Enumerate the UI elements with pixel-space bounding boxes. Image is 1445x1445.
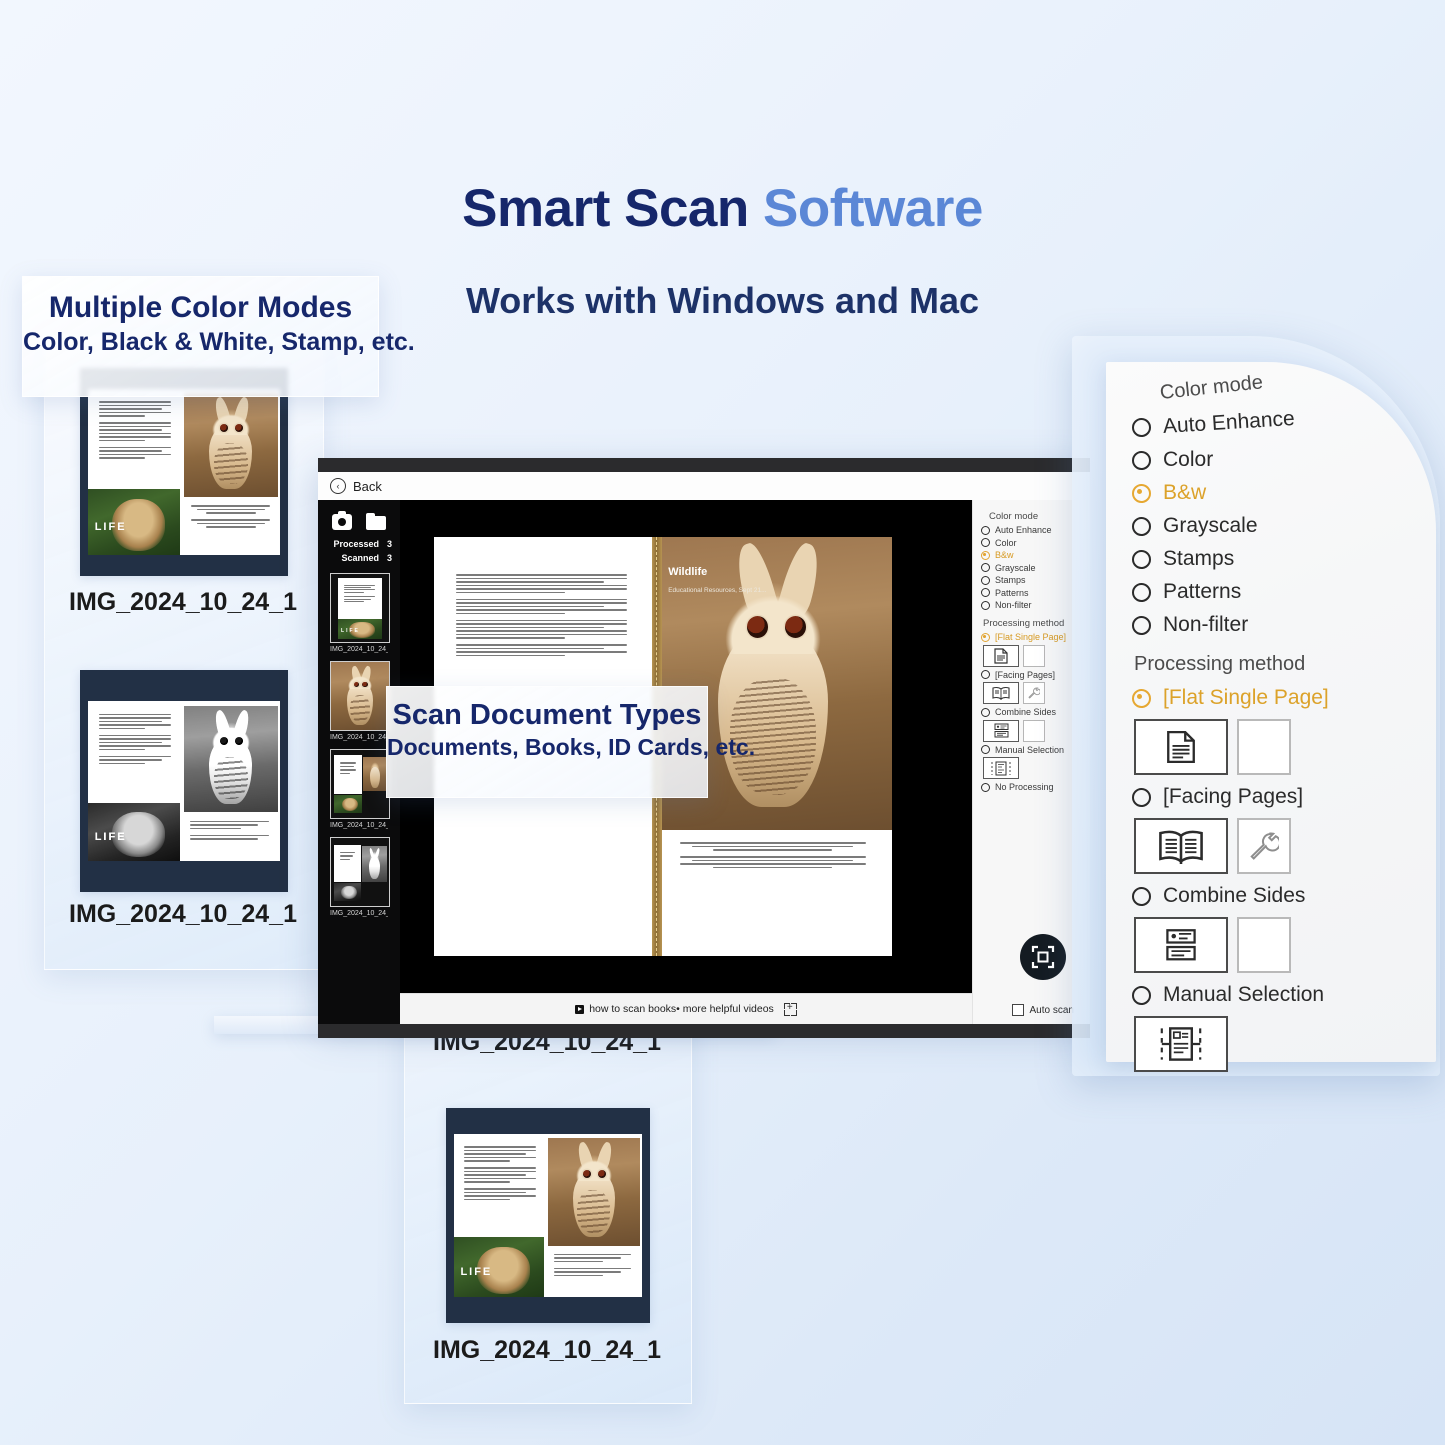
radio-icon[interactable] <box>981 670 990 679</box>
back-button[interactable]: Back <box>353 479 382 494</box>
life-cover-image-bw: LIFE <box>88 803 180 861</box>
window-title-bar <box>318 458 1090 472</box>
option-label: B&w <box>995 550 1014 560</box>
callout-title: Multiple Color Modes <box>23 291 378 325</box>
thumbnail-image <box>330 749 390 819</box>
radio-icon[interactable] <box>1132 616 1151 635</box>
list-item[interactable]: IMG_2024_10_24_1... <box>330 661 388 741</box>
mg-tile-row-manual-selection <box>1134 1016 1436 1072</box>
wrench-icon[interactable] <box>1237 818 1291 874</box>
wrench-icon[interactable] <box>1023 682 1045 704</box>
help-video-label: how to scan books• more helpful videos <box>589 1003 774 1015</box>
option-color[interactable]: Color <box>981 538 1084 548</box>
mg-option-bw[interactable]: B&w <box>1132 481 1436 505</box>
option-auto-enhance[interactable]: Auto Enhance <box>981 525 1084 535</box>
callout-color-modes: Multiple Color Modes Color, Black & Whit… <box>22 276 379 397</box>
blank-tile-icon[interactable] <box>1237 719 1291 775</box>
mg-option-patterns[interactable]: Patterns <box>1132 580 1436 604</box>
doc-card-color-spread-2[interactable]: LIFE <box>446 1108 650 1323</box>
radio-icon[interactable] <box>1132 451 1151 470</box>
app-bottom-bar: how to scan books• more helpful videos <box>400 993 972 1024</box>
radio-icon[interactable] <box>1132 986 1151 1005</box>
radio-icon-selected[interactable] <box>981 551 990 560</box>
filmstrip-actions <box>318 500 400 530</box>
color-mode-heading: Color mode <box>989 511 1084 522</box>
mg-tile-row-facing-pages <box>1134 818 1436 874</box>
page-title: Smart Scan Software <box>0 178 1445 239</box>
option-label: [Facing Pages] <box>1163 785 1303 809</box>
owl-photo <box>184 393 278 497</box>
option-label: [Flat Single Page] <box>1163 686 1329 710</box>
option-label: Grayscale <box>995 563 1036 573</box>
option-label: Color <box>1163 448 1213 472</box>
radio-icon-selected[interactable] <box>981 633 990 642</box>
document-page-icon[interactable] <box>983 645 1019 667</box>
radio-icon[interactable] <box>981 538 990 547</box>
mg-tile-row-combine-sides <box>1134 917 1436 973</box>
fullscreen-icon[interactable] <box>784 1003 797 1016</box>
radio-icon-selected[interactable] <box>1132 484 1151 503</box>
option-label: Patterns <box>995 588 1029 598</box>
page-text-block <box>95 397 178 501</box>
option-label: B&w <box>1163 481 1206 505</box>
mg-option-color[interactable]: Color <box>1132 448 1436 472</box>
preview-page-subtitle: Educational Resources, Sept 21... <box>668 587 766 594</box>
option-label: No Processing <box>995 782 1054 792</box>
back-chevron-icon[interactable]: ‹ <box>330 478 346 494</box>
option-combine-sides[interactable]: Combine Sides <box>981 707 1084 717</box>
option-label: Non-filter <box>995 600 1032 610</box>
auto-scan-label: Auto scan <box>1030 1005 1074 1016</box>
option-label: Non-filter <box>1163 613 1248 637</box>
list-item[interactable]: IMG_2024_10_24_1... <box>330 837 388 917</box>
magnifier-glass: Color mode Auto Enhance Color B&w Graysc… <box>1072 336 1440 1076</box>
radio-icon[interactable] <box>981 526 990 535</box>
radio-icon[interactable] <box>1132 550 1151 569</box>
life-label: LIFE <box>95 831 127 843</box>
stat-label-scanned: Scanned <box>341 552 379 566</box>
life-cover-image: LIFE <box>88 489 180 556</box>
option-patterns[interactable]: Patterns <box>981 588 1084 598</box>
radio-icon[interactable] <box>981 576 990 585</box>
mg-option-combine-sides[interactable]: Combine Sides <box>1132 884 1436 908</box>
owl-photo <box>548 1138 640 1246</box>
option-non-filter[interactable]: Non-filter <box>981 600 1084 610</box>
option-stamps[interactable]: Stamps <box>981 575 1084 585</box>
callout-title: Scan Document Types <box>387 699 707 731</box>
thumbnail-image <box>330 661 390 731</box>
headline-part-1: Smart Scan <box>462 179 763 238</box>
auto-scan-checkbox[interactable]: Auto scan <box>1012 1004 1074 1016</box>
mg-option-manual-selection[interactable]: Manual Selection <box>1132 983 1436 1007</box>
option-label: Patterns <box>1163 580 1241 604</box>
callout-document-types: Scan Document Types Documents, Books, ID… <box>386 686 708 798</box>
option-manual-selection[interactable]: Manual Selection <box>981 745 1084 755</box>
open-book-icon[interactable] <box>1134 818 1228 874</box>
id-card-stack-icon[interactable] <box>983 720 1019 742</box>
radio-icon[interactable] <box>1132 583 1151 602</box>
folder-icon[interactable] <box>366 514 386 530</box>
magnified-processing-heading: Processing method <box>1134 653 1436 676</box>
callout-subtitle: Documents, Books, ID Cards, etc. <box>387 734 707 760</box>
tile-row-manual-selection <box>983 757 1084 779</box>
page-text-block <box>460 1142 542 1245</box>
life-label: LIFE <box>460 1266 492 1278</box>
option-grayscale[interactable]: Grayscale <box>981 563 1084 573</box>
page-render: LIFE <box>446 1108 650 1323</box>
radio-icon[interactable] <box>981 588 990 597</box>
help-video-link[interactable]: how to scan books• more helpful videos <box>575 1003 774 1015</box>
scan-frame-icon <box>1031 945 1055 969</box>
checkbox-icon[interactable] <box>1012 1004 1024 1016</box>
option-label: Auto Enhance <box>995 525 1052 535</box>
page-render: LIFE <box>80 670 288 892</box>
option-flat-single-page[interactable]: [Flat Single Page] <box>981 632 1084 642</box>
id-card-stack-icon[interactable] <box>1134 917 1228 973</box>
mg-option-facing-pages[interactable]: [Facing Pages] <box>1132 785 1436 809</box>
doc-card-caption: IMG_2024_10_24_1 <box>44 588 322 617</box>
mg-tile-row-flat-single-page <box>1134 719 1436 775</box>
option-label: Stamps <box>1163 547 1234 571</box>
blank-tile-icon[interactable] <box>1023 720 1045 742</box>
radio-icon[interactable] <box>1132 887 1151 906</box>
doc-card-bw-spread[interactable]: LIFE <box>80 670 288 892</box>
window-foot-bar <box>318 1024 1090 1038</box>
magnified-settings-panel: Color mode Auto Enhance Color B&w Graysc… <box>1106 362 1436 1062</box>
option-label: Color <box>995 538 1017 548</box>
life-cover-image: LIFE <box>454 1237 544 1297</box>
tile-row-facing-pages <box>983 682 1084 704</box>
radio-icon[interactable] <box>981 708 990 717</box>
life-label: LIFE <box>95 521 127 533</box>
radio-icon[interactable] <box>981 783 990 792</box>
magnified-color-mode-heading: Color mode <box>1159 353 1436 405</box>
list-item-caption: IMG_2024_10_24_1... <box>330 907 388 917</box>
radio-icon[interactable] <box>1132 418 1151 437</box>
preview-page-title: Wildlife <box>668 566 707 578</box>
list-item[interactable]: IMG_2024_10_24_1... <box>330 749 388 829</box>
manual-crop-icon[interactable] <box>983 757 1019 779</box>
option-label: Auto Enhance <box>1162 407 1295 439</box>
list-item-caption: IMG_2024_10_24_1... <box>330 643 388 653</box>
mg-option-stamps[interactable]: Stamps <box>1132 547 1436 571</box>
list-item[interactable]: LIFE IMG_2024_10_24_1... <box>330 573 388 653</box>
doc-card-caption: IMG_2024_10_24_1 <box>44 900 322 929</box>
stat-value-scanned: 3 <box>387 552 392 566</box>
processing-method-heading: Processing method <box>983 618 1084 629</box>
scan-button[interactable] <box>1020 934 1066 980</box>
option-label: Combine Sides <box>1163 884 1305 908</box>
option-no-processing[interactable]: No Processing <box>981 782 1084 792</box>
app-toolbar: ‹ Back <box>318 472 1090 501</box>
poster-stage: Smart Scan Software Works with Windows a… <box>0 0 1445 1445</box>
callout-subtitle: Color, Black & White, Stamp, etc. <box>23 328 378 357</box>
mg-option-auto-enhance[interactable]: Auto Enhance <box>1132 415 1436 439</box>
page-render: LIFE <box>80 368 288 576</box>
stat-value-processed: 3 <box>387 538 392 552</box>
option-label: Manual Selection <box>1163 983 1324 1007</box>
document-page-icon[interactable] <box>1134 719 1228 775</box>
owl-photo-bw <box>184 706 278 813</box>
option-label: [Facing Pages] <box>995 670 1055 680</box>
thumbnail-image <box>330 837 390 907</box>
mg-option-non-filter[interactable]: Non-filter <box>1132 613 1436 637</box>
option-label: Manual Selection <box>995 745 1064 755</box>
option-label: Combine Sides <box>995 707 1056 717</box>
camera-icon[interactable] <box>332 514 352 530</box>
stat-label-processed: Processed <box>333 538 379 552</box>
radio-icon-selected[interactable] <box>1132 689 1151 708</box>
option-bw[interactable]: B&w <box>981 550 1084 560</box>
open-book-icon[interactable] <box>983 682 1019 704</box>
option-label: Grayscale <box>1163 514 1258 538</box>
option-label: [Flat Single Page] <box>995 632 1066 642</box>
radio-icon[interactable] <box>981 745 990 754</box>
list-item-caption: IMG_2024_10_24_1... <box>330 819 388 829</box>
mg-option-grayscale[interactable]: Grayscale <box>1132 514 1436 538</box>
list-item-caption: IMG_2024_10_24_1... <box>330 731 388 741</box>
radio-icon[interactable] <box>1132 517 1151 536</box>
doc-card-color-spread[interactable]: LIFE <box>80 368 288 576</box>
blank-tile-icon[interactable] <box>1023 645 1045 667</box>
headline-part-2: Software <box>763 179 983 238</box>
scan-stats: Processed3 Scanned3 <box>318 530 400 565</box>
play-icon <box>575 1005 584 1014</box>
radio-icon[interactable] <box>1132 788 1151 807</box>
tile-row-combine-sides <box>983 720 1084 742</box>
manual-crop-icon[interactable] <box>1134 1016 1228 1072</box>
radio-icon[interactable] <box>981 601 990 610</box>
option-label: Stamps <box>995 575 1026 585</box>
page-text-block <box>95 710 178 808</box>
mg-option-flat-single-page[interactable]: [Flat Single Page] <box>1132 686 1436 710</box>
blank-tile-icon[interactable] <box>1237 917 1291 973</box>
doc-card-caption: IMG_2024_10_24_1 <box>404 1336 690 1365</box>
radio-icon[interactable] <box>981 563 990 572</box>
tile-row-flat-single-page <box>983 645 1084 667</box>
option-facing-pages[interactable]: [Facing Pages] <box>981 670 1084 680</box>
thumbnail-image: LIFE <box>330 573 390 643</box>
